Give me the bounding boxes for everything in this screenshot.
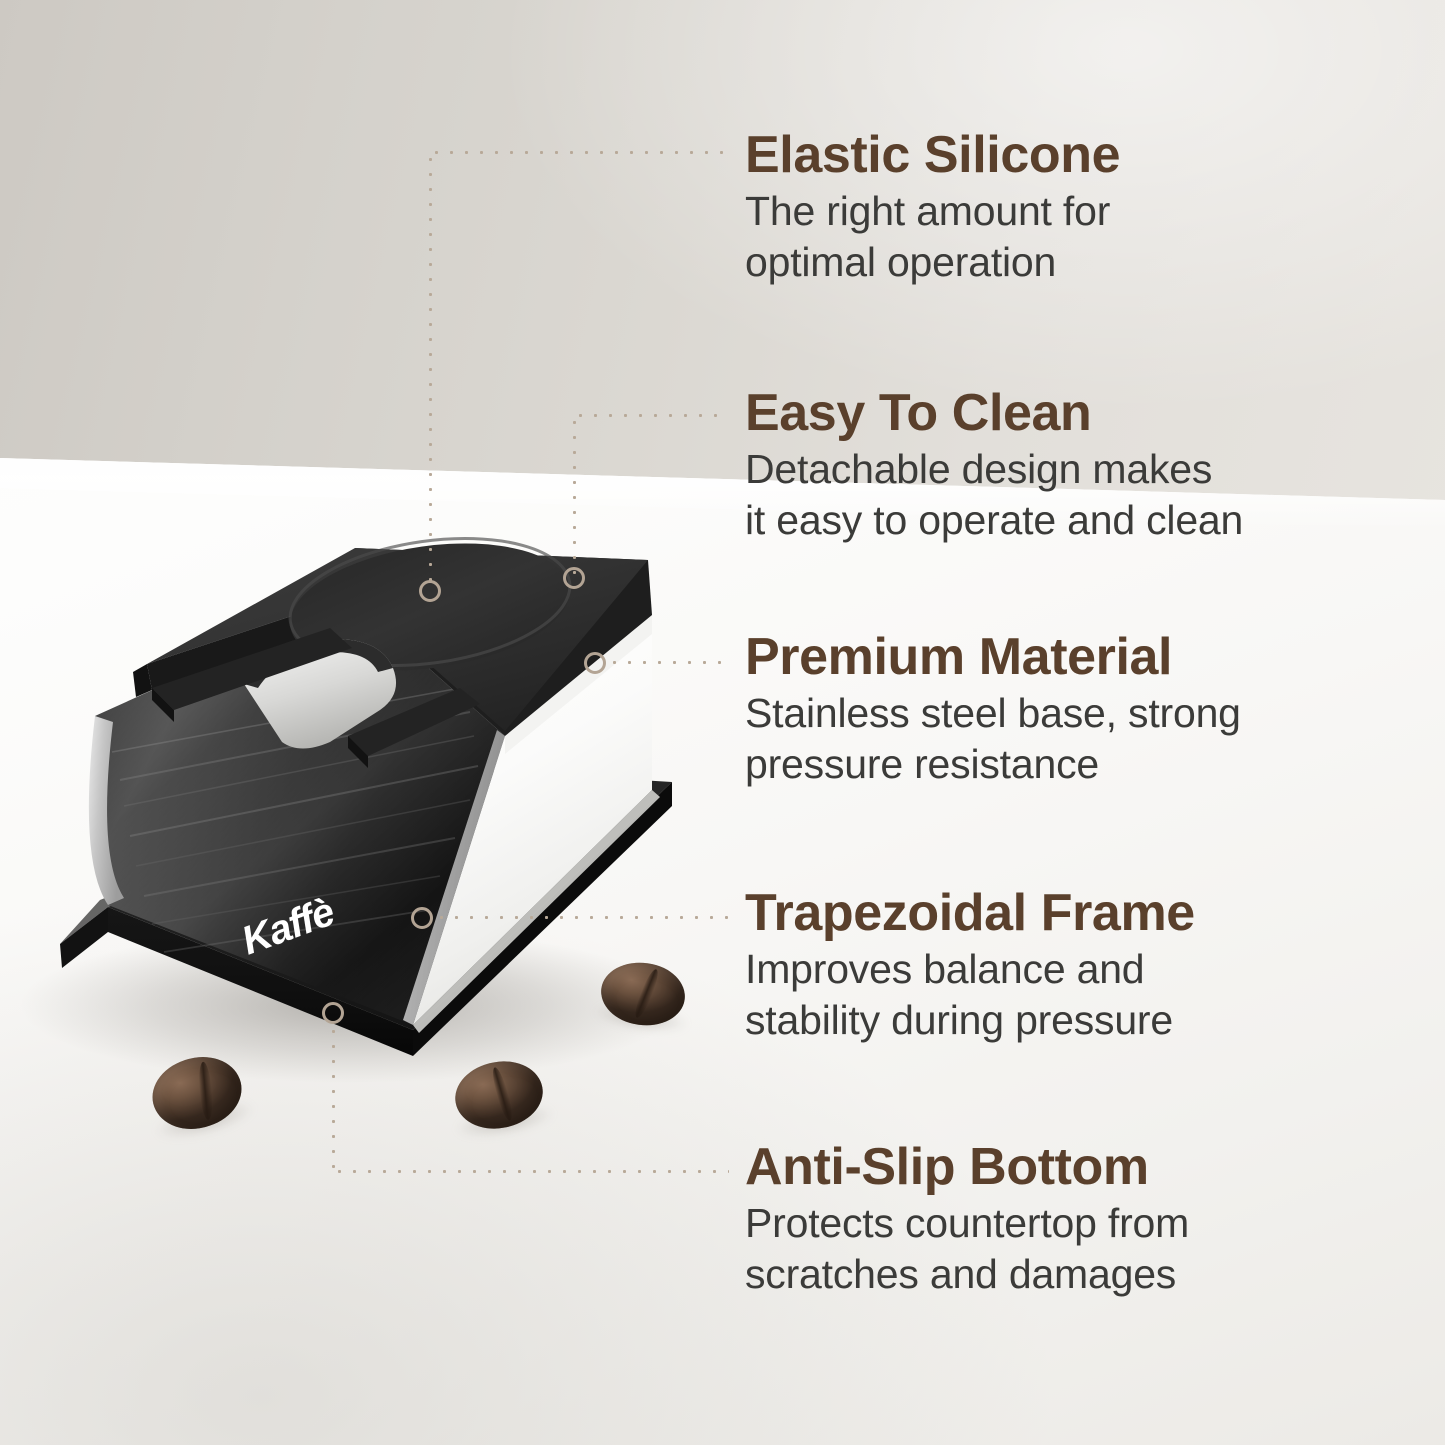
feature-description-line-1: Improves balance and (745, 944, 1435, 994)
feature-title: Trapezoidal Frame (745, 886, 1435, 940)
feature-title: Premium Material (745, 630, 1435, 684)
callout-line-4-horizontal (434, 916, 729, 919)
callout-marker-2 (563, 567, 585, 589)
callout-marker-3 (584, 652, 606, 674)
product-feature-infographic: Kaffè E (0, 0, 1445, 1445)
callout-marker-4 (411, 907, 433, 929)
feature-title: Elastic Silicone (745, 128, 1435, 182)
callout-line-3-horizontal (607, 661, 729, 664)
callout-marker-1 (419, 580, 441, 602)
callout-line-2-horizontal (573, 414, 729, 417)
feature-block-easy-to-clean: Easy To Clean Detachable design makes it… (745, 386, 1435, 545)
feature-block-premium-material: Premium Material Stainless steel base, s… (745, 630, 1435, 789)
feature-block-anti-slip-bottom: Anti-Slip Bottom Protects countertop fro… (745, 1140, 1435, 1299)
feature-description-line-1: Stainless steel base, strong (745, 688, 1435, 738)
callout-line-1-horizontal (429, 151, 729, 154)
callout-line-2-vertical (573, 415, 576, 575)
feature-description-line-2: optimal operation (745, 237, 1435, 287)
feature-description-line-2: it easy to operate and clean (745, 495, 1435, 545)
feature-description-line-2: pressure resistance (745, 739, 1435, 789)
feature-title: Anti-Slip Bottom (745, 1140, 1435, 1194)
callout-line-1-vertical (429, 152, 432, 582)
feature-title: Easy To Clean (745, 386, 1435, 440)
feature-description-line-2: scratches and damages (745, 1249, 1435, 1299)
callout-line-5-horizontal (332, 1170, 729, 1173)
feature-description-line-1: Detachable design makes (745, 444, 1435, 494)
feature-block-elastic-silicone: Elastic Silicone The right amount for op… (745, 128, 1435, 287)
callout-line-5-vertical (332, 1024, 335, 1172)
feature-block-trapezoidal-frame: Trapezoidal Frame Improves balance and s… (745, 886, 1435, 1045)
feature-description-line-2: stability during pressure (745, 995, 1435, 1045)
feature-description-line-1: Protects countertop from (745, 1198, 1435, 1248)
callout-marker-5 (322, 1002, 344, 1024)
feature-description-line-1: The right amount for (745, 186, 1435, 236)
